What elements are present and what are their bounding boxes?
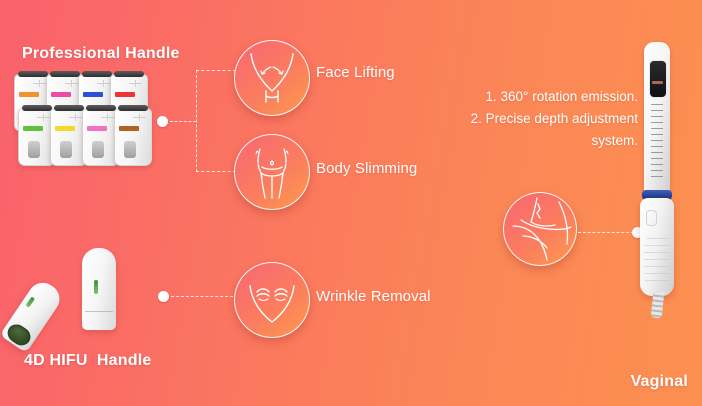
professional-handle-image (14, 72, 164, 168)
vaginal-handle-image (632, 42, 682, 318)
cartridge-slot (124, 141, 136, 158)
vaginal-handle-button (646, 210, 657, 226)
cartridge-color-strip (115, 92, 135, 97)
cartridge-color-strip (23, 126, 43, 131)
vaginal-handle-ridges (644, 238, 670, 282)
vaginal-handle-shaft (644, 42, 670, 192)
cartridge-slot (60, 141, 72, 158)
hifu-indicator-led (94, 280, 98, 294)
display-glint (652, 81, 663, 84)
vaginal-handle-title: Vaginal Treatment Handle (551, 322, 688, 406)
cartridge-color-strip (87, 126, 107, 131)
feature-label-face-lifting: Face Lifting (316, 64, 395, 81)
cartridge-mark-icon (97, 80, 110, 87)
cartridge-color-strip (55, 126, 75, 131)
cartridge-cap (54, 105, 84, 111)
cartridge-cap (86, 105, 116, 111)
cartridge-mark-icon (37, 114, 50, 121)
vaginal-handle-display (649, 60, 667, 98)
cartridge-mark-icon (33, 80, 46, 87)
cartridge-color-strip (119, 126, 139, 131)
cartridge-slot (28, 141, 40, 158)
hifu-indicator-led (26, 296, 35, 307)
cartridge-color-strip (83, 92, 103, 97)
connector-line-professional-trunk (170, 121, 196, 122)
handle-cartridge (114, 108, 152, 166)
feature-label-wrinkle-removal: Wrinkle Removal (316, 288, 431, 305)
cartridge-cap (50, 71, 80, 77)
vaginal-handle-depth-scale (651, 104, 663, 182)
connector-dot-professional-handle (157, 116, 168, 127)
vaginal-handle-cable (651, 291, 665, 318)
specs-list: 1. 360° rotation emission. 2. Precise de… (462, 86, 638, 152)
professional-handle-title: Professional Handle (22, 45, 180, 63)
cartridge-cap (118, 105, 148, 111)
cartridge-cap (114, 71, 144, 77)
connector-line-professional-vertical (196, 70, 197, 172)
connector-line-to-wrinkle-removal (171, 296, 233, 297)
cartridge-mark-icon (69, 114, 82, 121)
hifu-seam (85, 311, 113, 312)
cartridge-cap (18, 71, 48, 77)
wrinkle-removal-icon (234, 262, 310, 338)
spec-item-1: 1. 360° rotation emission. (462, 86, 638, 108)
vaginal-handle-title-line1: Vaginal (551, 370, 688, 394)
hifu-transducer-tip (4, 321, 34, 349)
cartridge-color-strip (19, 92, 39, 97)
infographic-canvas: Professional Handle (0, 0, 702, 406)
face-lifting-icon (234, 40, 310, 116)
hifu-handle-upright (82, 248, 116, 330)
hifu-handle-title: 4D HIFU Handle (24, 352, 151, 370)
cartridge-slot (92, 141, 104, 158)
connector-line-to-vaginal-handle (578, 232, 634, 233)
cartridge-mark-icon (65, 80, 78, 87)
connector-line-to-face-lifting (196, 70, 236, 71)
spec-item-2: 2. Precise depth adjustment (462, 108, 638, 130)
spec-item-3: system. (462, 130, 638, 152)
cartridge-mark-icon (133, 114, 146, 121)
connector-line-to-body-slimming (196, 171, 236, 172)
cartridge-mark-icon (129, 80, 142, 87)
hifu-handle-tilted (0, 277, 65, 353)
cartridge-mark-icon (101, 114, 114, 121)
feature-label-body-slimming: Body Slimming (316, 160, 417, 177)
vaginal-treatment-icon (503, 192, 577, 266)
connector-dot-hifu-handle (158, 291, 169, 302)
cartridge-cap (22, 105, 52, 111)
vaginal-handle-grip (640, 198, 674, 296)
cartridge-color-strip (51, 92, 71, 97)
hifu-handle-image (30, 248, 150, 348)
cartridge-cap (82, 71, 112, 77)
body-slimming-icon (234, 134, 310, 210)
